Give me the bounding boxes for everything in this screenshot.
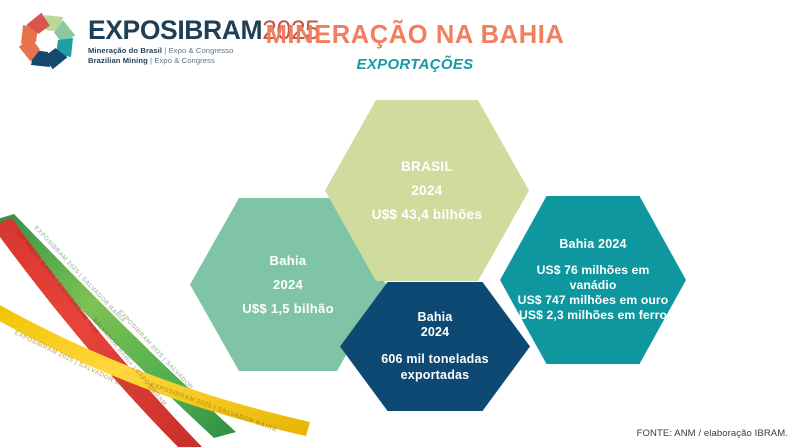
hexagon-brasil-line-1: BRASIL bbox=[337, 159, 517, 174]
hexagon-bahia-minerais: Bahia 2024 US$ 76 milhões em vanádio US$… bbox=[500, 196, 686, 364]
page-title: MINERAÇÃO NA BAHIA bbox=[250, 22, 580, 49]
source-note: FONTE: ANM / elaboração IBRAM. bbox=[637, 428, 788, 439]
hexagon-bahia-minerais-header: Bahia 2024 bbox=[512, 237, 674, 251]
logo-subtitle-en-bold: Brazilian Mining bbox=[88, 56, 148, 65]
hexagon-brasil-line-2: 2024 bbox=[337, 183, 517, 198]
logo-wordmark-main: EXPOSIBRAM bbox=[88, 15, 262, 45]
hexagon-bahia-valor-line-2: 2024 bbox=[202, 277, 374, 292]
hexagon-bahia-toneladas-line-2: 2024 bbox=[352, 325, 518, 341]
exposibram-pinwheel-icon bbox=[14, 10, 80, 72]
hexagon-bahia-valor-line-1: Bahia bbox=[202, 253, 374, 268]
logo-subtitle-pt-bold: Mineração do Brasil bbox=[88, 46, 162, 55]
hexagon-bahia-minerais-line-2: US$ 747 milhões em ouro bbox=[512, 293, 674, 308]
hexagon-bahia-minerais-line-1: US$ 76 milhões em vanádio bbox=[512, 263, 674, 293]
page-subtitle: EXPORTAÇÕES bbox=[250, 56, 580, 73]
logo-subtitle-pt-tail: | Expo & Congresso bbox=[162, 46, 233, 55]
exposibram-logo: EXPOSIBRAM2025 Mineração do Brasil | Exp… bbox=[14, 8, 264, 74]
hexagon-bahia-toneladas-line-3: 606 mil toneladas bbox=[352, 352, 518, 368]
hexagon-bahia-toneladas-spacer bbox=[352, 341, 518, 352]
logo-subtitle-en-tail: | Expo & Congress bbox=[148, 56, 215, 65]
hexagon-brasil-line-3: U$$ 43,4 bilhões bbox=[337, 207, 517, 222]
slide-canvas: EXPOSIBRAM 2025 | SALVADOR BAHIA EXPOSIB… bbox=[0, 0, 800, 447]
hexagon-bahia-toneladas-line-4: exportadas bbox=[352, 368, 518, 384]
hexagon-bahia-minerais-line-3: US$ 2,3 milhões em ferro bbox=[512, 308, 674, 323]
hexagon-bahia-valor-line-3: U$$ 1,5 bilhão bbox=[202, 301, 374, 316]
hexagon-bahia-toneladas-line-1: Bahia bbox=[352, 310, 518, 326]
title-block: MINERAÇÃO NA BAHIA EXPORTAÇÕES bbox=[250, 22, 580, 73]
